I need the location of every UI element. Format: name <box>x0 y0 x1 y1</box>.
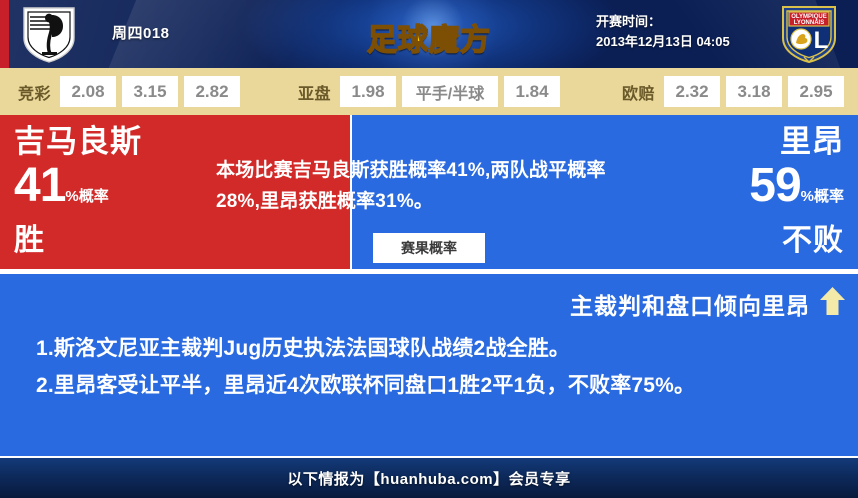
home-percent-row: 41%概率 <box>14 161 194 222</box>
home-probability-block: 吉马良斯 41%概率 胜 <box>14 123 194 260</box>
insight-item-list: 1.斯洛文尼亚主裁判Jug历史执法法国球队战绩2战全胜。 2.里昂客受让平半，里… <box>36 330 826 404</box>
away-percent-value: 59 <box>749 159 800 212</box>
odds-bar: 竞彩 2.08 3.15 2.82 亚盘 1.98 平手/半球 1.84 欧赔 … <box>0 68 858 115</box>
odds-group-jingcai: 竞彩 2.08 3.15 2.82 <box>18 76 246 107</box>
odds-cell[interactable]: 2.95 <box>788 76 844 107</box>
kickoff-block: 开赛时间： 2013年12月13日 04:05 <box>596 12 772 52</box>
odds-group-label: 亚盘 <box>298 80 331 104</box>
home-team-name: 吉马良斯 <box>14 123 194 161</box>
match-number: 周四018 <box>112 22 170 43</box>
odds-cell[interactable]: 1.84 <box>504 76 560 107</box>
match-preview-graphic: 周四018 足球魔方 开赛时间： 2013年12月13日 04:05 OLYMP… <box>0 0 858 498</box>
insight-panel: 主裁判和盘口倾向里昂 1.斯洛文尼亚主裁判Jug历史执法法国球队战绩2战全胜。 … <box>0 274 858 456</box>
olympique-lyonnais-crest: OLYMPIQUE LYONNAIS L <box>780 4 838 64</box>
vitoria-guimaraes-crest <box>22 5 76 63</box>
probability-band: 吉马良斯 41%概率 胜 里昂 59%概率 不败 赛果概率 本场比赛吉马良斯获胜… <box>0 115 858 269</box>
odds-group-yapan: 亚盘 1.98 平手/半球 1.84 <box>298 76 566 107</box>
away-outcome-label: 不败 <box>634 222 844 260</box>
tab-result-probability[interactable]: 赛果概率 <box>373 233 485 263</box>
home-percent-unit: %概率 <box>65 188 108 205</box>
odds-cell[interactable]: 1.98 <box>340 76 396 107</box>
svg-text:LYONNAIS: LYONNAIS <box>794 20 824 26</box>
odds-cell[interactable]: 2.82 <box>184 76 240 107</box>
odds-group-label: 竞彩 <box>18 80 51 104</box>
kickoff-label: 开赛时间： <box>596 12 772 32</box>
brand-title: 足球魔方 <box>358 15 500 59</box>
list-item: 1.斯洛文尼亚主裁判Jug历史执法法国球队战绩2战全胜。 <box>36 330 826 367</box>
away-team-name: 里昂 <box>634 123 844 161</box>
footer-notice: 以下情报为【huanhuba.com】会员专享 <box>287 468 570 489</box>
insight-headline: 主裁判和盘口倾向里昂 <box>570 287 810 321</box>
away-probability-block: 里昂 59%概率 不败 <box>634 123 844 260</box>
odds-group-oupei: 欧赔 2.32 3.18 2.95 <box>622 76 850 107</box>
away-percent-row: 59%概率 <box>634 161 844 222</box>
odds-cell[interactable]: 2.08 <box>60 76 116 107</box>
arrow-up-icon <box>819 286 846 316</box>
away-percent-unit: %概率 <box>801 188 844 205</box>
list-item: 2.里昂客受让平半，里昂近4次欧联杯同盘口1胜2平1负，不败率75%。 <box>36 367 826 404</box>
kickoff-value: 2013年12月13日 04:05 <box>596 32 772 52</box>
odds-cell[interactable]: 3.15 <box>122 76 178 107</box>
brand-logo: 足球魔方 <box>358 7 500 59</box>
footer-bar: 以下情报为【huanhuba.com】会员专享 <box>0 456 858 498</box>
odds-cell[interactable]: 2.32 <box>664 76 720 107</box>
header-bar: 周四018 足球魔方 开赛时间： 2013年12月13日 04:05 OLYMP… <box>0 0 858 68</box>
header-accent-stripe <box>0 0 9 68</box>
odds-cell-handicap[interactable]: 平手/半球 <box>402 76 498 107</box>
home-outcome-label: 胜 <box>14 222 194 260</box>
probability-summary-text: 本场比赛吉马良斯获胜概率41%,两队战平概率28%,里昂获胜概率31%。 <box>216 155 636 217</box>
home-percent-value: 41 <box>14 159 65 212</box>
svg-text:L: L <box>814 27 829 54</box>
odds-cell[interactable]: 3.18 <box>726 76 782 107</box>
odds-group-label: 欧赔 <box>622 80 655 104</box>
